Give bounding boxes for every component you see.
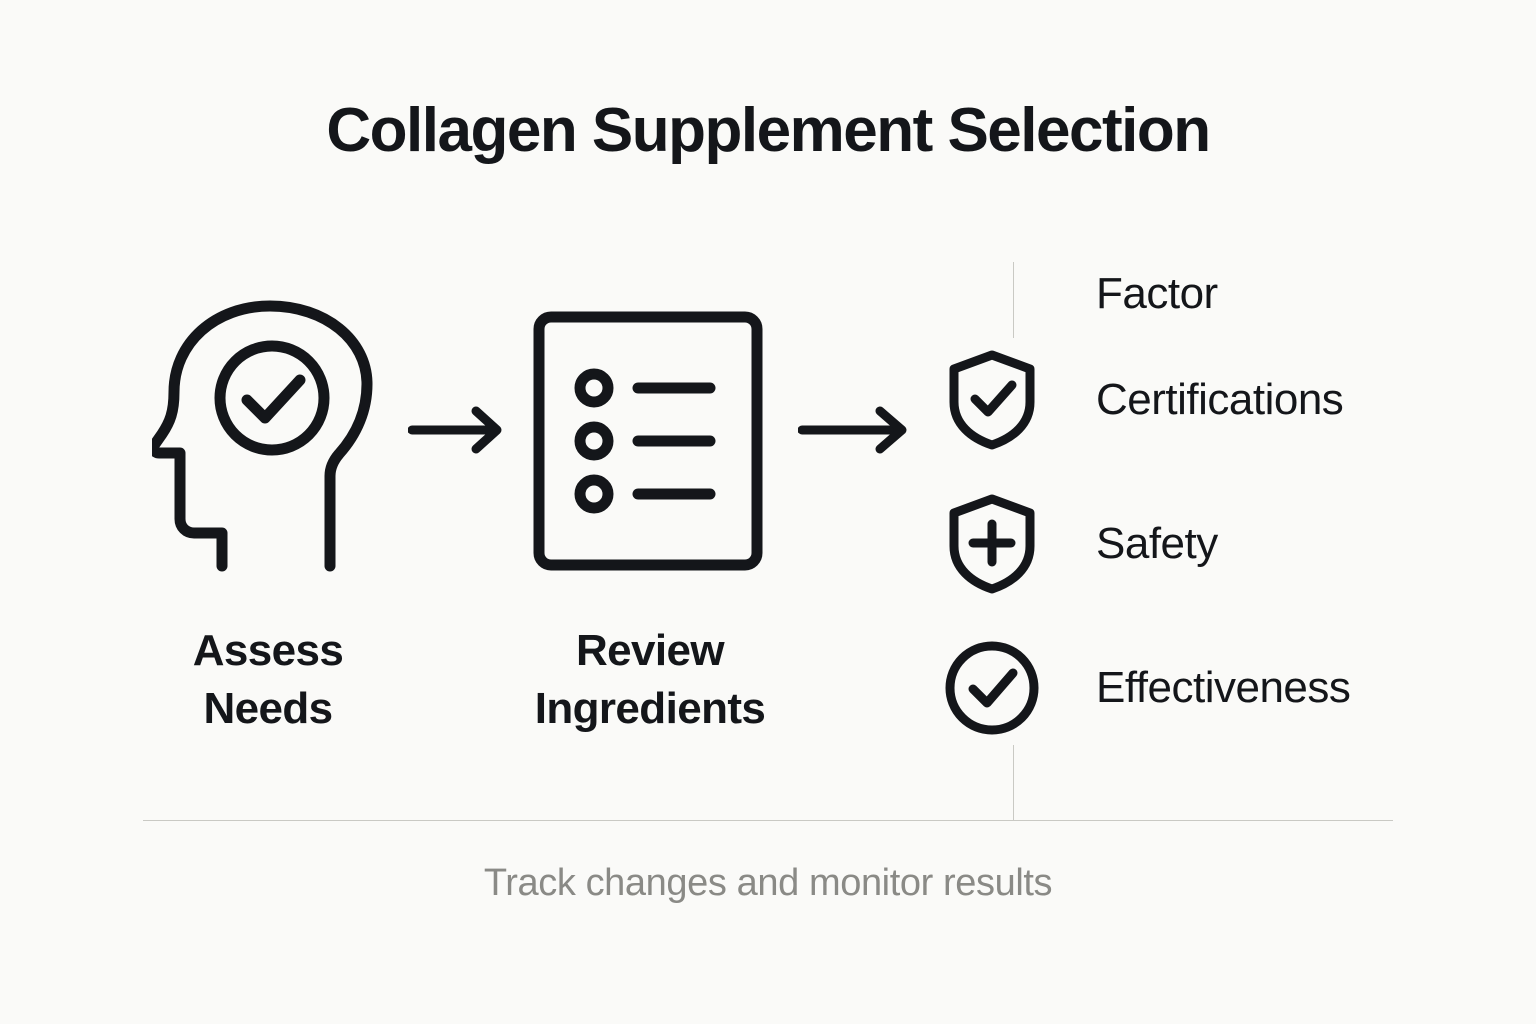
step-assess-needs-label-line2: Needs	[108, 680, 428, 738]
footer-caption: Track changes and monitor results	[143, 862, 1393, 905]
document-list-icon	[532, 310, 764, 572]
arrow-right-icon	[798, 402, 913, 458]
step-review-ingredients-label: Review Ingredients	[490, 622, 810, 738]
factor-row-effectiveness: Effectiveness	[944, 636, 1414, 740]
step-assess-needs-icon-wrap	[152, 300, 382, 580]
shield-check-icon	[947, 350, 1037, 450]
step-assess-needs-label: Assess Needs	[108, 622, 428, 738]
circle-check-icon	[945, 641, 1039, 735]
step-review-ingredients-label-line2: Ingredients	[490, 680, 810, 738]
page-title: Collagen Supplement Selection	[143, 97, 1393, 165]
step-review-ingredients-label-line1: Review	[490, 622, 810, 680]
factor-column-header: Factor	[1096, 269, 1218, 319]
step-assess-needs-label-line1: Assess	[108, 622, 428, 680]
head-check-icon	[152, 300, 382, 580]
circle-check-icon-wrap	[944, 641, 1040, 735]
horizontal-divider	[143, 820, 1393, 821]
factor-row-safety: Safety	[944, 492, 1414, 596]
arrow-right-icon	[408, 402, 508, 458]
factor-label-safety: Safety	[1096, 519, 1218, 569]
vertical-divider-bottom	[1013, 745, 1014, 821]
factor-label-effectiveness: Effectiveness	[1096, 663, 1350, 713]
vertical-divider-top	[1013, 262, 1014, 338]
factor-row-certifications: Certifications	[944, 348, 1414, 452]
step-review-ingredients-icon-wrap	[532, 310, 764, 572]
shield-check-icon-wrap	[944, 350, 1040, 450]
infographic-canvas: Collagen Supplement Selection Assess Nee…	[0, 0, 1536, 1024]
shield-plus-icon-wrap	[944, 494, 1040, 594]
shield-plus-icon	[947, 494, 1037, 594]
factor-label-certifications: Certifications	[1096, 375, 1343, 425]
